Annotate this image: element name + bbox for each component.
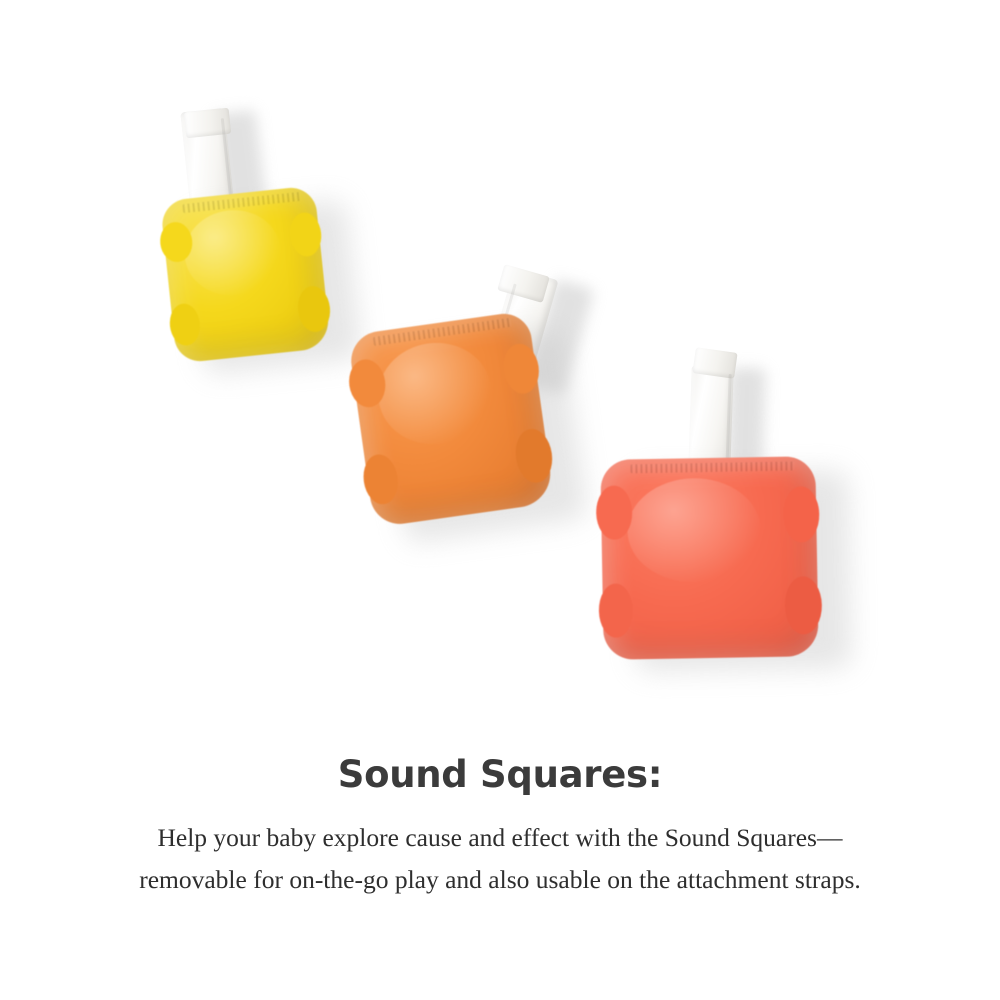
caption-line-2: removable for on-the-go play and also us… [60, 859, 940, 900]
product-photo [0, 0, 1000, 740]
coral-pillow-puff [600, 456, 818, 660]
coral-corner-lobe-br [784, 576, 822, 635]
product-image-page: Sound Squares: Help your baby explore ca… [0, 0, 1000, 1000]
yellow-pillow-puff [160, 185, 331, 363]
coral-corner-lobe-tl [596, 485, 633, 540]
caption-line-1: Help your baby explore cause and effect … [60, 817, 940, 858]
caption-block: Sound Squares: Help your baby explore ca… [0, 752, 1000, 900]
coral-pillow-face [600, 456, 818, 660]
page-title: Sound Squares: [0, 752, 1000, 798]
caption-description: Help your baby explore cause and effect … [60, 817, 940, 900]
orange-pillow-puff [347, 310, 554, 527]
coral-corner-lobe-tr [783, 486, 820, 543]
coral-corner-lobe-bl [598, 583, 633, 638]
